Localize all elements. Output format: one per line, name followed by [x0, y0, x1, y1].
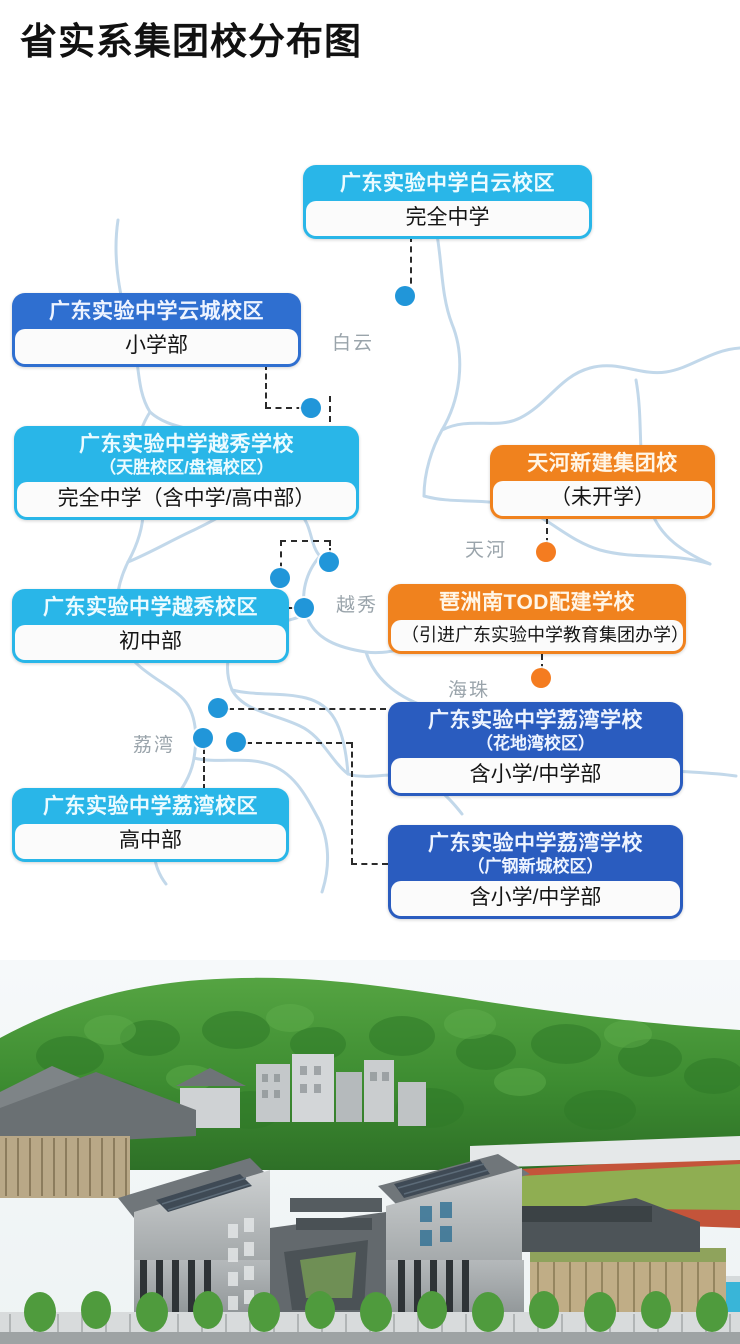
callout-head: 广东实验中学白云校区: [306, 168, 589, 201]
callout-liwan-guanggang[interactable]: 广东实验中学荔湾学校 （广钢新城校区） 含小学/中学部: [388, 825, 683, 919]
callout-title: 广东实验中学白云校区: [316, 172, 579, 196]
connector-yuexiu-campus-top: [280, 540, 330, 542]
callout-body: （引进广东实验中学教育集团办学）: [391, 620, 683, 652]
map-marker-liwan-guanggang[interactable]: [226, 732, 246, 752]
callout-yuncheng-campus[interactable]: 广东实验中学云城校区 小学部: [12, 293, 301, 367]
connector-liwan-campus: [203, 748, 205, 790]
map-area: 白云 天河 越秀 海珠 荔湾: [0, 100, 740, 960]
callout-title: 琶洲南TOD配建学校: [401, 591, 673, 615]
callout-head: 琶洲南TOD配建学校: [391, 587, 683, 620]
map-marker-yuncheng-campus[interactable]: [301, 398, 321, 418]
callout-body: 含小学/中学部: [391, 881, 680, 916]
page-title: 省实系集团校分布图: [20, 22, 362, 63]
map-marker-liwan-campus[interactable]: [193, 728, 213, 748]
map-marker-yuexiu-campus-a[interactable]: [270, 568, 290, 588]
connector-yuexiu-school-vertical: [329, 396, 331, 422]
callout-body: 初中部: [15, 625, 286, 660]
district-label-tianhe: 天河: [465, 535, 507, 562]
callout-title: 天河新建集团校: [503, 452, 702, 476]
callout-body: 含小学/中学部: [391, 758, 680, 793]
connector-guanggang-h1: [246, 742, 352, 744]
map-marker-yuexiu-school[interactable]: [319, 552, 339, 572]
callout-title: 广东实验中学云城校区: [25, 300, 288, 324]
callout-subtitle: （广钢新城校区）: [401, 857, 670, 876]
map-marker-yuexiu-campus-b[interactable]: [294, 598, 314, 618]
map-marker-tianhe-new[interactable]: [536, 542, 556, 562]
callout-body: 高中部: [15, 824, 286, 859]
callout-tianhe-new[interactable]: 天河新建集团校 （未开学）: [490, 445, 715, 519]
connector-guanggang-v: [351, 742, 353, 864]
callout-title: 广东实验中学荔湾学校: [401, 832, 670, 856]
district-label-haizhu: 海珠: [448, 675, 490, 702]
callout-head: 广东实验中学越秀学校 （天胜校区/盘福校区）: [17, 429, 356, 482]
callout-yuexiu-campus[interactable]: 广东实验中学越秀校区 初中部: [12, 589, 289, 663]
connector-yuncheng-vertical: [265, 364, 267, 408]
callout-baiyun-campus[interactable]: 广东实验中学白云校区 完全中学: [303, 165, 592, 239]
district-label-liwan: 荔湾: [133, 730, 175, 757]
map-marker-liwan-huadiwan[interactable]: [208, 698, 228, 718]
callout-body: 小学部: [15, 329, 298, 364]
callout-subtitle: （花地湾校区）: [401, 734, 670, 753]
callout-title: 广东实验中学越秀校区: [25, 596, 276, 620]
connector-guanggang-h2: [351, 863, 388, 865]
callout-head: 广东实验中学荔湾校区: [15, 791, 286, 824]
callout-title: 广东实验中学荔湾学校: [401, 709, 670, 733]
callout-head: 广东实验中学越秀校区: [15, 592, 286, 625]
callout-yuexiu-school[interactable]: 广东实验中学越秀学校 （天胜校区/盘福校区） 完全中学（含中学/高中部）: [14, 426, 359, 520]
map-marker-baiyun-campus[interactable]: [395, 286, 415, 306]
callout-title: 广东实验中学荔湾校区: [25, 795, 276, 819]
callout-liwan-campus[interactable]: 广东实验中学荔湾校区 高中部: [12, 788, 289, 862]
campus-photo-illustration: [0, 960, 740, 1344]
callout-head: 广东实验中学云城校区: [15, 296, 298, 329]
connector-baiyun: [410, 236, 412, 294]
callout-body: 完全中学（含中学/高中部）: [17, 482, 356, 517]
callout-head: 天河新建集团校: [493, 448, 712, 481]
callout-pazhou-tod[interactable]: 琶洲南TOD配建学校 （引进广东实验中学教育集团办学）: [388, 584, 686, 654]
callout-body: 完全中学: [306, 201, 589, 236]
callout-subtitle: （天胜校区/盘福校区）: [27, 458, 346, 477]
connector-huadiwan: [228, 708, 386, 710]
district-label-yuexiu: 越秀: [336, 590, 378, 617]
callout-liwan-huadiwan[interactable]: 广东实验中学荔湾学校 （花地湾校区） 含小学/中学部: [388, 702, 683, 796]
map-marker-pazhou-tod[interactable]: [531, 668, 551, 688]
district-label-baiyun: 白云: [332, 328, 374, 355]
callout-head: 广东实验中学荔湾学校 （广钢新城校区）: [391, 828, 680, 881]
callout-body: （未开学）: [493, 481, 712, 516]
callout-title: 广东实验中学越秀学校: [27, 433, 346, 457]
callout-head: 广东实验中学荔湾学校 （花地湾校区）: [391, 705, 680, 758]
campus-photo: [0, 960, 740, 1344]
infographic-page: 省实系集团校分布图: [0, 0, 740, 1344]
